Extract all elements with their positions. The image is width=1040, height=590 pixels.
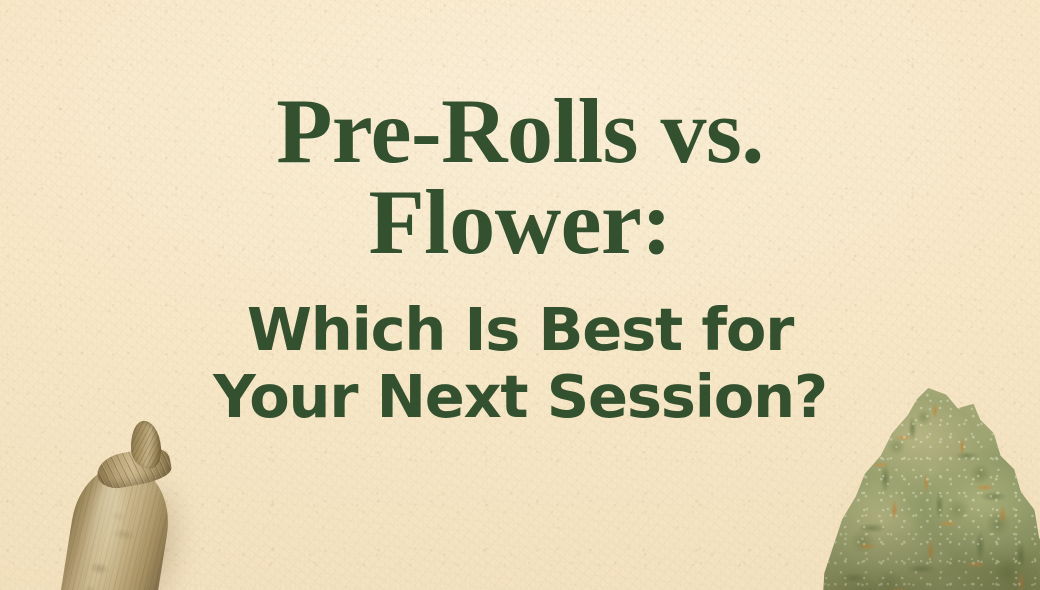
headline: Pre-Rolls vs. Flower: bbox=[0, 86, 1040, 268]
headline-line-2: Flower: bbox=[0, 177, 1040, 268]
headline-line-1: Pre-Rolls vs. bbox=[0, 86, 1040, 177]
subheadline-line-2: Your Next Session? bbox=[0, 363, 1040, 430]
subheadline: Which Is Best for Your Next Session? bbox=[0, 296, 1040, 431]
title-block: Pre-Rolls vs. Flower: Which Is Best for … bbox=[0, 86, 1040, 431]
banner-canvas: Pre-Rolls vs. Flower: Which Is Best for … bbox=[0, 0, 1040, 590]
subheadline-line-1: Which Is Best for bbox=[0, 296, 1040, 363]
